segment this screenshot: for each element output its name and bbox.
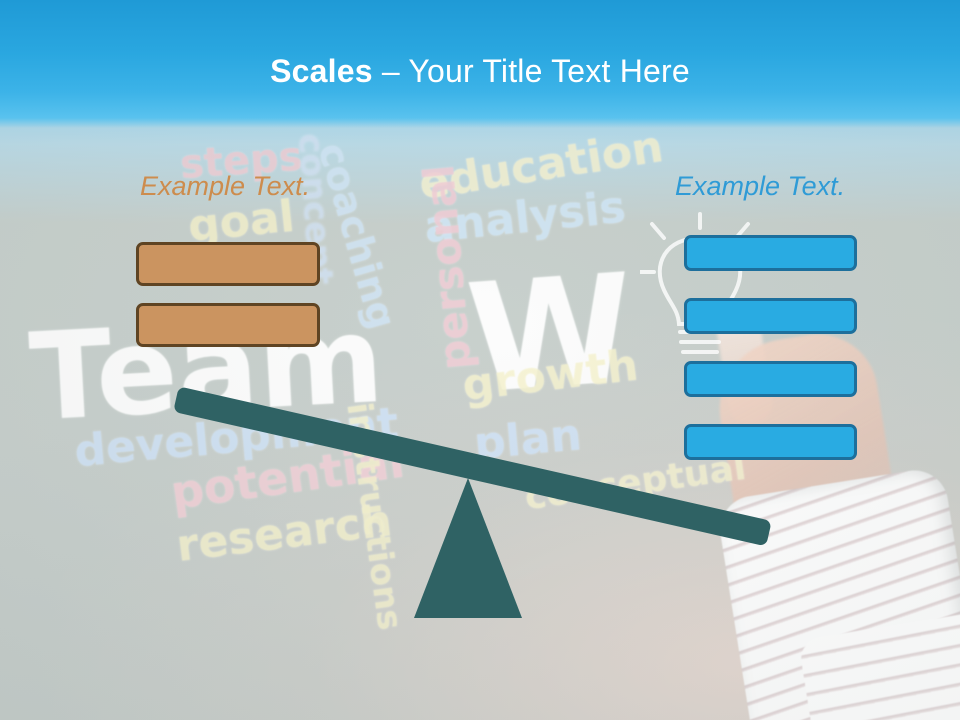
page-title-strong: Scales <box>270 53 373 89</box>
page-title-rest: – Your Title Text Here <box>373 53 690 89</box>
left-box-2[interactable] <box>136 303 320 347</box>
right-box-3[interactable] <box>684 361 857 397</box>
page-title: Scales – Your Title Text Here <box>0 52 960 90</box>
right-box-4[interactable] <box>684 424 857 460</box>
left-box-1[interactable] <box>136 242 320 286</box>
fulcrum-triangle <box>414 478 522 618</box>
right-box-2[interactable] <box>684 298 857 334</box>
right-group-label[interactable]: Example Text. <box>675 170 845 202</box>
right-box-1[interactable] <box>684 235 857 271</box>
presentation-slide: steps goal coaching concept education an… <box>0 0 960 720</box>
left-group-label[interactable]: Example Text. <box>140 170 310 202</box>
